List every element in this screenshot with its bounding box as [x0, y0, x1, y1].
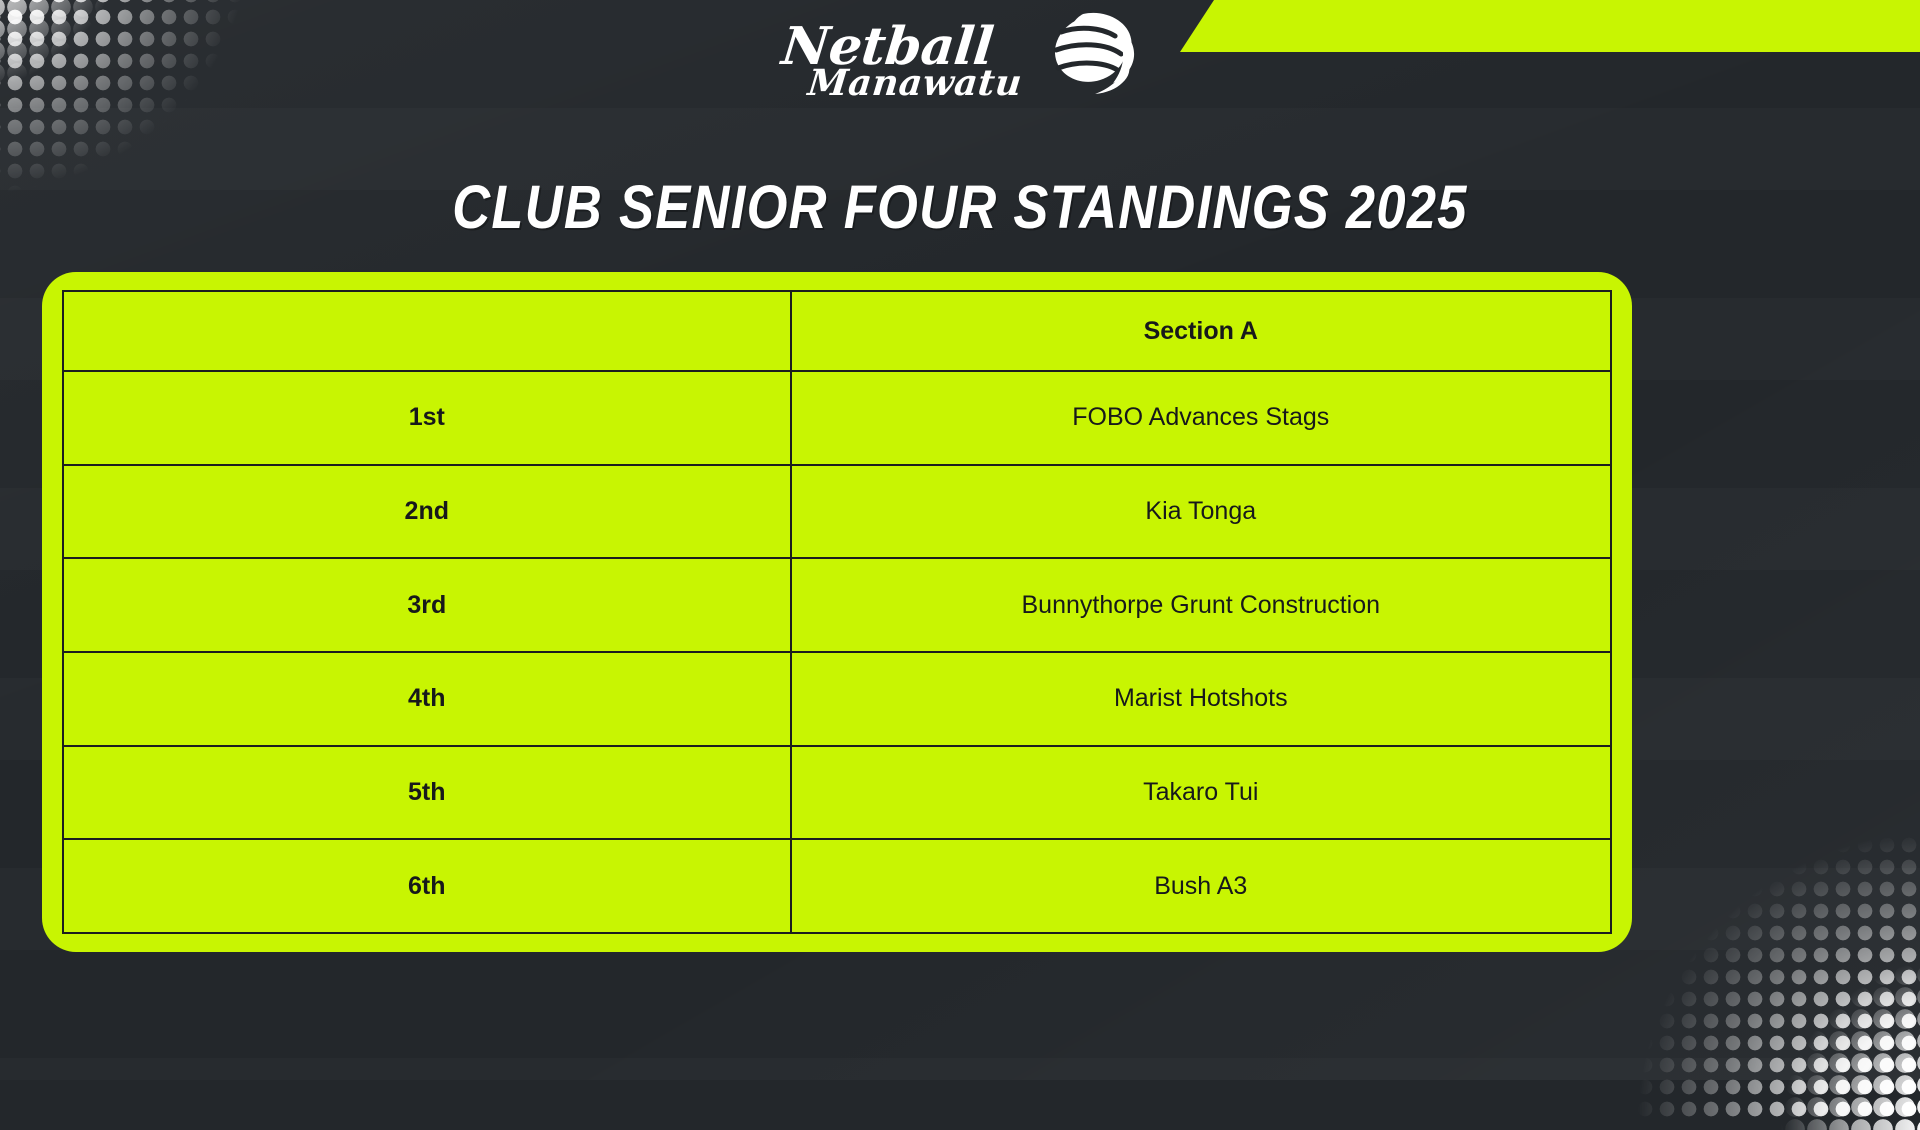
team-cell: Kia Tonga	[791, 465, 1611, 559]
table-header-row: Section A	[63, 291, 1611, 371]
team-cell: Bunnythorpe Grunt Construction	[791, 558, 1611, 652]
rank-cell: 2nd	[63, 465, 791, 559]
rank-cell: 6th	[63, 839, 791, 933]
standings-card: Section A 1st FOBO Advances Stags 2nd Ki…	[42, 272, 1632, 952]
netball-manawatu-logo: Netball Manawatu	[782, 8, 1138, 115]
header-cell-section: Section A	[791, 291, 1611, 371]
table-row[interactable]: 1st FOBO Advances Stags	[63, 371, 1611, 465]
table-row[interactable]: 5th Takaro Tui	[63, 746, 1611, 840]
team-cell: Takaro Tui	[791, 746, 1611, 840]
table-row[interactable]: 3rd Bunnythorpe Grunt Construction	[63, 558, 1611, 652]
standings-table: Section A 1st FOBO Advances Stags 2nd Ki…	[62, 290, 1612, 934]
table-row[interactable]: 4th Marist Hotshots	[63, 652, 1611, 746]
rank-cell: 5th	[63, 746, 791, 840]
accent-banner	[1180, 0, 1920, 52]
page-title: CLUB SENIOR FOUR STANDINGS 2025	[134, 172, 1785, 242]
rank-cell: 1st	[63, 371, 791, 465]
rank-cell: 3rd	[63, 558, 791, 652]
team-cell: Marist Hotshots	[791, 652, 1611, 746]
table-row[interactable]: 6th Bush A3	[63, 839, 1611, 933]
team-cell: FOBO Advances Stags	[791, 371, 1611, 465]
netball-swoosh-icon	[1020, 10, 1138, 115]
logo-wordmark: Netball Manawatu	[782, 23, 1022, 100]
team-cell: Bush A3	[791, 839, 1611, 933]
header-cell-rank	[63, 291, 791, 371]
rank-cell: 4th	[63, 652, 791, 746]
logo-line-manawatu: Manawatu	[806, 67, 1023, 100]
table-row[interactable]: 2nd Kia Tonga	[63, 465, 1611, 559]
